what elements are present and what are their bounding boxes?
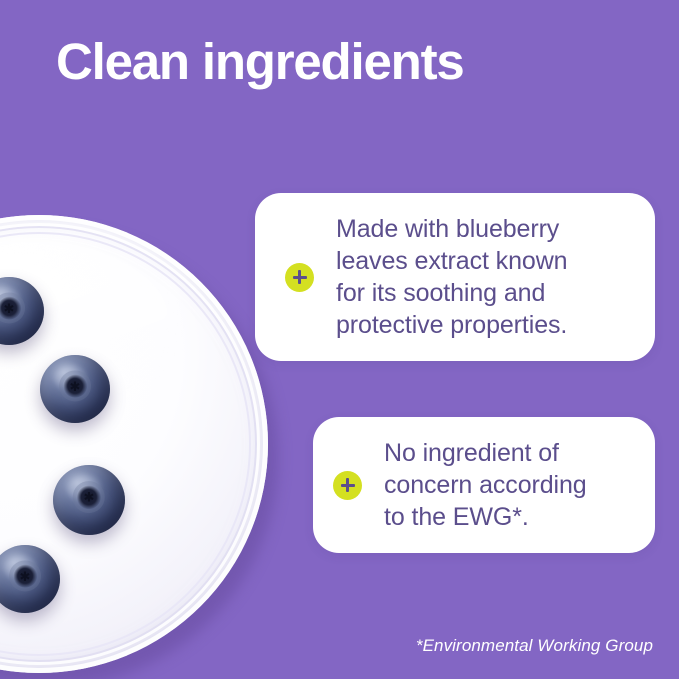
berry-calyx-icon: ✱	[15, 566, 36, 586]
berry-calyx-icon: ✱	[0, 298, 20, 318]
benefit-card-text: Made with blueberry leaves extract known…	[336, 213, 567, 341]
page-title: Clean ingredients	[56, 32, 464, 92]
petri-dish: ✱ ✱ ✱ ✱ ✱ ✱	[0, 215, 268, 673]
berry-calyx-icon: ✱	[78, 487, 100, 508]
benefit-card-ewg: No ingredient of concern according to th…	[313, 417, 655, 553]
plus-glyph	[293, 270, 307, 284]
plus-icon	[285, 263, 314, 292]
benefit-card-text: No ingredient of concern according to th…	[384, 437, 587, 533]
berry-calyx-icon: ✱	[65, 376, 86, 396]
footnote: *Environmental Working Group	[416, 635, 653, 657]
plus-glyph	[341, 478, 355, 492]
plus-icon	[333, 471, 362, 500]
benefit-card-ingredients: Made with blueberry leaves extract known…	[255, 193, 655, 361]
blueberry-petri-dish-photo: ✱ ✱ ✱ ✱ ✱ ✱	[0, 215, 270, 675]
infographic-canvas: Clean ingredients ✱ ✱ ✱	[0, 0, 679, 679]
dish-rim-inner	[0, 232, 251, 656]
